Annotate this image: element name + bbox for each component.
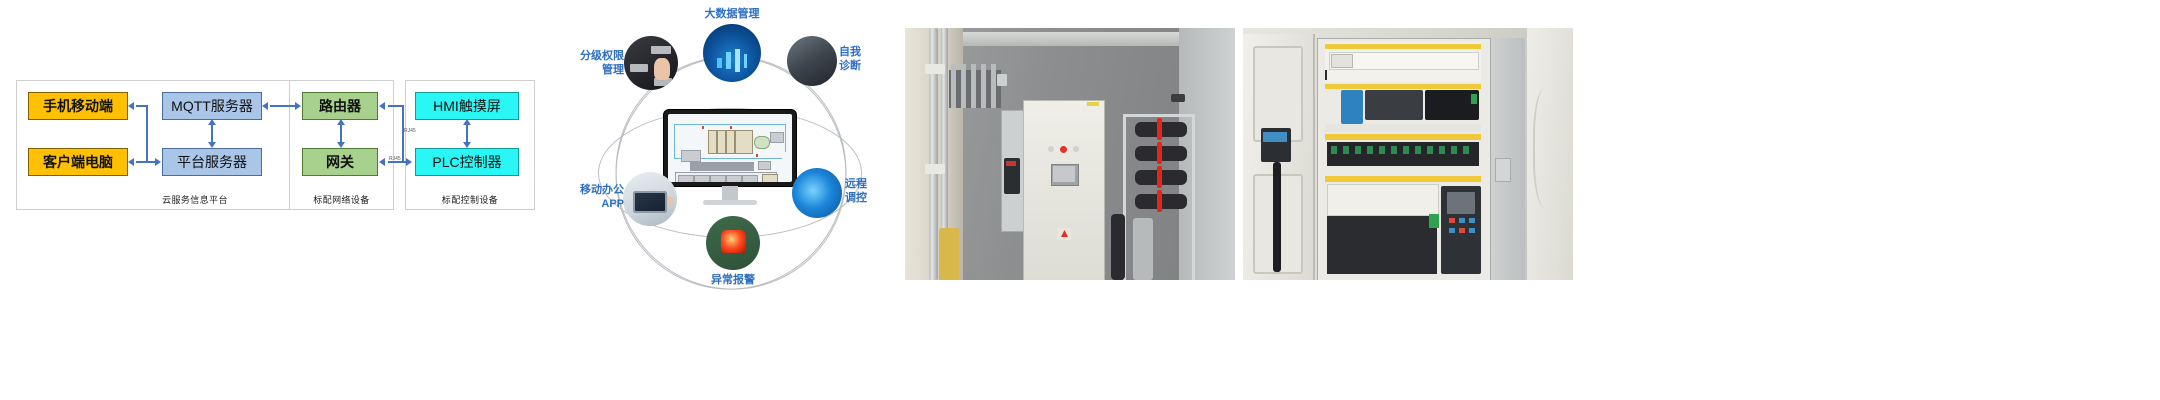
orbit-label-remote-control: 远程 调控	[845, 178, 889, 206]
monitor-base	[703, 200, 757, 205]
node-gateway[interactable]: 网关	[302, 148, 378, 176]
arrow-up-mqtt-icon	[208, 119, 216, 125]
photo-cabinet-outdoor	[905, 28, 1235, 280]
tablet-bubble-icon	[623, 172, 677, 226]
node-hmi-touchscreen[interactable]: HMI触摸屏	[415, 92, 519, 120]
monitor-bezel	[664, 110, 796, 186]
orbit-label-self-diagnosis: 自我 诊断	[839, 46, 883, 74]
arrow-to-plc-icon	[406, 158, 412, 166]
arrow-down-plc-icon	[463, 142, 471, 148]
node-router[interactable]: 路由器	[302, 92, 378, 120]
central-scada-monitor	[664, 110, 796, 210]
screenshot-canvas: 云服务信息平台 标配网络设备 标配控制设备 手机移动端 客户端电脑 MQTT服务…	[0, 0, 2160, 400]
edge-bus-vertical	[146, 105, 148, 162]
photo-panel-interior	[1243, 28, 1573, 280]
bar-chart-bubble-icon	[703, 24, 761, 82]
edge-mqtt-router	[270, 105, 296, 107]
orbit-label-mobile-app: 移动办公 APP	[562, 184, 624, 212]
arrow-down-gateway-icon	[337, 142, 345, 148]
arrow-up-hmi-icon	[463, 119, 471, 125]
orbit-label-permission: 分级权限 管理	[560, 50, 624, 78]
permission-levels-bubble-icon	[624, 36, 678, 90]
scada-screen	[668, 114, 792, 182]
arrow-to-gateway-icon	[379, 158, 385, 166]
node-plc-controller[interactable]: PLC控制器	[415, 148, 519, 176]
arrow-to-client-icon	[128, 158, 134, 166]
arrow-to-mqtt-icon	[262, 102, 268, 110]
orbit-label-alarm: 异常报警	[693, 274, 773, 288]
orbit-label-bigdata: 大数据管理	[692, 8, 772, 22]
network-bubble-icon	[792, 168, 842, 218]
arrow-to-router-icon	[295, 102, 301, 110]
arrow-to-mobile-icon	[128, 102, 134, 110]
group-network-devices-label: 标配网络设备	[290, 193, 393, 206]
stethoscope-bubble-icon	[787, 36, 837, 86]
group-control-devices-label: 标配控制设备	[406, 193, 534, 206]
arrow-up-router-icon	[337, 119, 345, 125]
ecosystem-orbit-diagram: 大数据管理 自我 诊断 远程 调控 异常报警 移动办公 APP 分级权限 管理	[560, 0, 900, 400]
arrow-to-platform-icon	[155, 158, 161, 166]
node-mqtt-server[interactable]: MQTT服务器	[162, 92, 262, 120]
edge-tag-rj45-top: RJ45	[404, 128, 416, 134]
node-desktop-client[interactable]: 客户端电脑	[28, 148, 128, 176]
node-platform-server[interactable]: 平台服务器	[162, 148, 262, 176]
arrow-down-platform-icon	[208, 142, 216, 148]
monitor-neck	[722, 186, 738, 200]
edge-tag-rj45-bottom: RJ45	[389, 156, 401, 162]
node-mobile-client[interactable]: 手机移动端	[28, 92, 128, 120]
architecture-diagram: 云服务信息平台 标配网络设备 标配控制设备 手机移动端 客户端电脑 MQTT服务…	[0, 0, 560, 400]
arrow-to-router-loop-icon	[379, 102, 385, 110]
alarm-beacon-bubble-icon	[706, 216, 760, 270]
